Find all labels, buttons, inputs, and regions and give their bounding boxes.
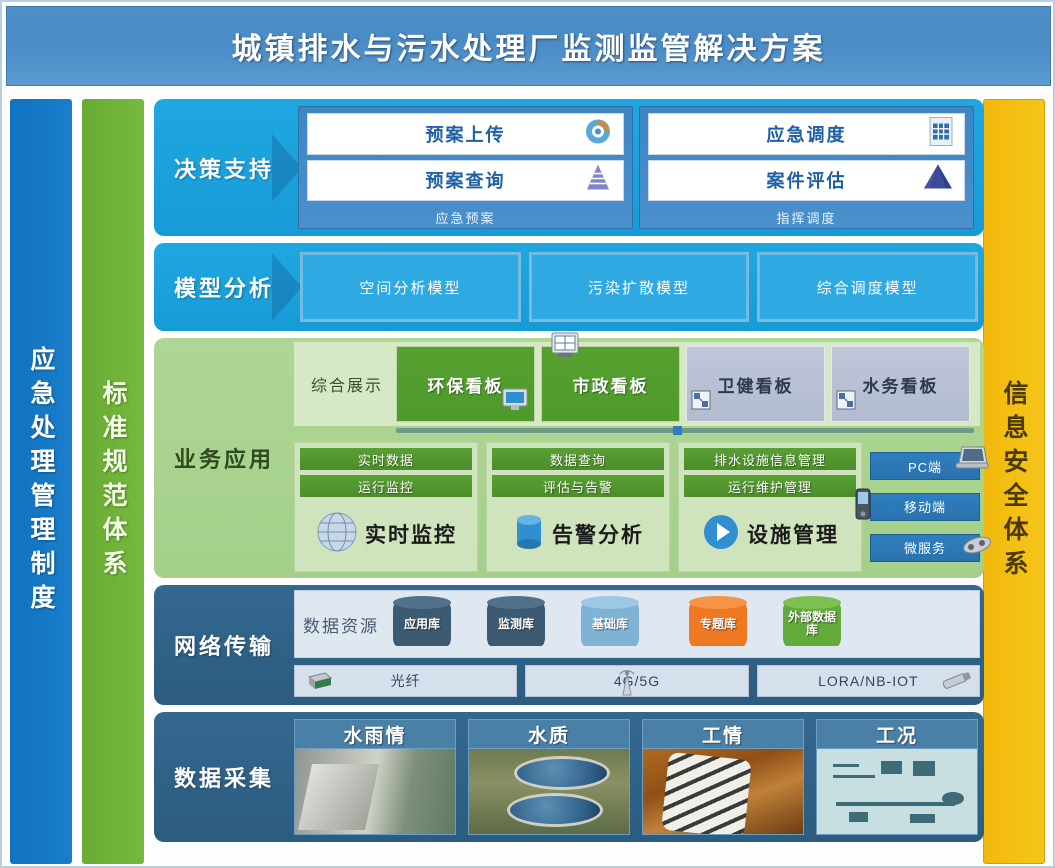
database-application-label: 应用库 (393, 596, 451, 652)
terminal-mobile-label: 移动端 (904, 497, 946, 516)
decision-item-emergency-dispatch[interactable]: 应急调度 (648, 113, 965, 155)
layered-pyramid-icon (583, 164, 613, 197)
schematic-line (833, 764, 859, 767)
layer-data-collection-label: 数据采集 (154, 712, 294, 842)
sensor-probe-icon (939, 668, 973, 697)
data-card-rainfall-label: 水雨情 (294, 719, 456, 749)
layer-business-application-label: 业务应用 (154, 338, 294, 578)
board-water-affairs[interactable]: 水务看板 (831, 346, 970, 422)
business-pill-realtime-data[interactable]: 实时数据 (300, 448, 472, 470)
board-municipal-label: 市政看板 (573, 372, 649, 397)
dashboard-scrollbar-thumb[interactable] (673, 426, 682, 435)
comprehensive-display-label: 综合展示 (298, 346, 396, 422)
board-environmental-label: 环保看板 (428, 372, 504, 397)
data-card-engineering-status[interactable]: 工情 (642, 719, 804, 835)
terminal-microservice-label: 微服务 (904, 538, 946, 557)
schematic-block (849, 812, 868, 822)
database-application[interactable]: 应用库 (393, 596, 451, 652)
dashboard-row: 综合展示 环保看板 市政看板 (294, 342, 980, 426)
business-main-realtime-monitoring-label: 实时监控 (365, 519, 457, 549)
database-thematic[interactable]: 专题库 (689, 596, 747, 652)
business-pill-data-query[interactable]: 数据查询 (492, 448, 664, 470)
layer-data-collection-body: 水雨情 水质 工情 工况 (294, 712, 984, 842)
terminal-pc-label: PC端 (908, 457, 942, 476)
model-box-integrated-dispatch[interactable]: 综合调度模型 (757, 252, 978, 322)
scada-schematic-photo (816, 749, 978, 835)
business-column-monitoring: 实时数据 运行监控 (294, 442, 478, 572)
sidebar-emergency-management-system: 应急处理管理制度 (10, 99, 72, 864)
layer-decision-support-body: 预案上传 预案查询 (294, 99, 984, 236)
fiber-router-icon (305, 670, 333, 695)
business-pill-evaluation-alarm[interactable]: 评估与告警 (492, 475, 664, 497)
grid-table-icon (928, 116, 954, 151)
business-main-realtime-monitoring[interactable]: 实时监控 (300, 502, 472, 566)
layer-model-analysis-body: 空间分析模型 污染扩散模型 综合调度模型 (294, 243, 984, 331)
layer-business-application: 业务应用 综合展示 环保看板 (154, 338, 984, 578)
terminal-microservice[interactable]: 微服务 (870, 534, 980, 562)
business-pill-drainage-facility-info[interactable]: 排水设施信息管理 (684, 448, 856, 470)
link-lora-nbiot-label: LORA/NB-IOT (818, 673, 918, 689)
monitor-icon (502, 388, 528, 417)
link-lora-nbiot[interactable]: LORA/NB-IOT (757, 665, 980, 697)
business-column-alarm: 数据查询 评估与告警 告警分析 (486, 442, 670, 572)
transmission-link-row: 光纤 4G/5G LORA/NB-IOT (294, 665, 980, 697)
decision-item-emergency-dispatch-label: 应急调度 (767, 121, 847, 147)
data-card-engineering-status-label: 工情 (642, 719, 804, 749)
board-environmental[interactable]: 环保看板 (396, 346, 535, 422)
decision-item-plan-upload[interactable]: 预案上传 (307, 113, 624, 155)
decision-item-plan-query-label: 预案查询 (426, 167, 506, 193)
device-icon (961, 533, 993, 560)
sidebar-information-security-system: 信息安全体系 (983, 99, 1045, 864)
decision-group-command-dispatch-caption: 指挥调度 (648, 206, 965, 228)
title-bar: 城镇排水与污水处理厂监测监管解决方案 (6, 6, 1051, 86)
tank-shape (507, 793, 603, 827)
link-fiber-label: 光纤 (391, 671, 421, 691)
decision-item-case-evaluation-label: 案件评估 (767, 167, 847, 193)
schematic-line (833, 775, 875, 778)
business-main-alarm-analysis[interactable]: 告警分析 (492, 502, 664, 566)
cycle-arrows-icon (583, 116, 613, 151)
decision-group-emergency-plan-caption: 应急预案 (307, 206, 624, 228)
data-card-working-condition[interactable]: 工况 (816, 719, 978, 835)
schematic-line (836, 802, 954, 806)
layer-business-application-body: 综合展示 环保看板 市政看板 (294, 338, 984, 578)
business-main-facility-management-label: 设施管理 (747, 519, 839, 549)
schematic-block (913, 761, 935, 776)
layer-decision-support: 决策支持 预案上传 (154, 99, 984, 236)
sidebar-emergency-label: 应急处理管理制度 (23, 346, 59, 618)
layer-stack: 决策支持 预案上传 (154, 99, 984, 849)
schematic-block (881, 761, 902, 775)
globe-icon (315, 510, 359, 559)
model-box-row: 空间分析模型 污染扩散模型 综合调度模型 (294, 243, 984, 331)
link-fiber[interactable]: 光纤 (294, 665, 517, 697)
dark-pyramid-icon (922, 164, 954, 197)
data-card-water-quality-label: 水质 (468, 719, 630, 749)
database-thematic-label: 专题库 (689, 596, 747, 652)
model-box-pollution-diffusion[interactable]: 污染扩散模型 (529, 252, 750, 322)
schematic-block (910, 814, 936, 823)
database-basic[interactable]: 基础库 (581, 596, 639, 652)
data-resource-label: 数据资源 (303, 612, 379, 637)
terminal-pc[interactable]: PC端 (870, 452, 980, 480)
play-circle-icon (701, 512, 741, 557)
page-title: 城镇排水与污水处理厂监测监管解决方案 (232, 24, 826, 68)
board-water-affairs-label: 水务看板 (863, 372, 939, 397)
database-monitoring-label: 监测库 (487, 596, 545, 652)
decision-item-plan-query[interactable]: 预案查询 (307, 160, 624, 202)
decision-group-emergency-plan: 预案上传 预案查询 (298, 106, 633, 229)
data-card-water-quality[interactable]: 水质 (468, 719, 630, 835)
antenna-tower-icon (616, 668, 638, 699)
data-card-row: 水雨情 水质 工情 工况 (294, 712, 984, 842)
terminal-mobile[interactable]: 移动端 (870, 493, 980, 521)
board-health[interactable]: 卫健看板 (686, 346, 825, 422)
decision-item-case-evaluation[interactable]: 案件评估 (648, 160, 965, 202)
data-card-working-condition-label: 工况 (816, 719, 978, 749)
laptop-icon (955, 445, 989, 474)
link-cellular[interactable]: 4G/5G (525, 665, 748, 697)
schematic-block (942, 792, 964, 806)
tank-shape (514, 756, 610, 790)
layer-network-transmission: 网络传输 数据资源 应用库 监测库 (154, 585, 984, 705)
model-box-spatial[interactable]: 空间分析模型 (300, 252, 521, 322)
database-monitoring[interactable]: 监测库 (487, 596, 545, 652)
layer-network-transmission-label: 网络传输 (154, 585, 294, 705)
layer-model-analysis: 模型分析 空间分析模型 污染扩散模型 综合调度模型 (154, 243, 984, 331)
layer-network-transmission-body: 数据资源 应用库 监测库 基础库 (294, 585, 984, 705)
business-column-facility: 排水设施信息管理 运行维护管理 设施管理 (678, 442, 862, 572)
terminal-list: PC端 移动端 (870, 442, 980, 572)
database-external-label: 外部数据库 (783, 596, 841, 652)
database-basic-label: 基础库 (581, 596, 639, 652)
decision-group-command-dispatch: 应急调度 (639, 106, 974, 229)
data-card-rainfall[interactable]: 水雨情 (294, 719, 456, 835)
solution-architecture-diagram: 城镇排水与污水处理厂监测监管解决方案 应急处理管理制度 标准规范体系 信息安全体… (0, 0, 1055, 868)
canal-channel-photo (294, 749, 456, 835)
chart-node-icon (691, 390, 711, 415)
database-icon (512, 510, 546, 559)
mobile-phone-icon (853, 488, 873, 523)
business-pill-operation-monitoring[interactable]: 运行监控 (300, 475, 472, 497)
window-screen-icon (550, 331, 580, 364)
business-main-alarm-analysis-label: 告警分析 (552, 519, 644, 549)
buried-pipeline-photo (642, 749, 804, 835)
board-health-label: 卫健看板 (718, 372, 794, 397)
business-main-facility-management[interactable]: 设施管理 (684, 502, 856, 566)
sidebar-standard-label: 标准规范体系 (95, 380, 131, 584)
dashboard-scrollbar[interactable] (396, 428, 974, 433)
layer-data-collection: 数据采集 水雨情 水质 工情 (154, 712, 984, 842)
sidebar-standard-specification-system: 标准规范体系 (82, 99, 144, 864)
decision-item-plan-upload-label: 预案上传 (426, 121, 506, 147)
sidebar-security-label: 信息安全体系 (996, 380, 1032, 584)
data-resource-bar: 数据资源 应用库 监测库 基础库 (294, 590, 980, 658)
database-external[interactable]: 外部数据库 (783, 596, 841, 652)
sedimentation-tanks-photo (468, 749, 630, 835)
business-columns: 实时数据 运行监控 (294, 442, 980, 572)
chart-node-icon (836, 390, 856, 415)
board-municipal[interactable]: 市政看板 (541, 346, 680, 422)
business-pill-operation-maintenance[interactable]: 运行维护管理 (684, 475, 856, 497)
